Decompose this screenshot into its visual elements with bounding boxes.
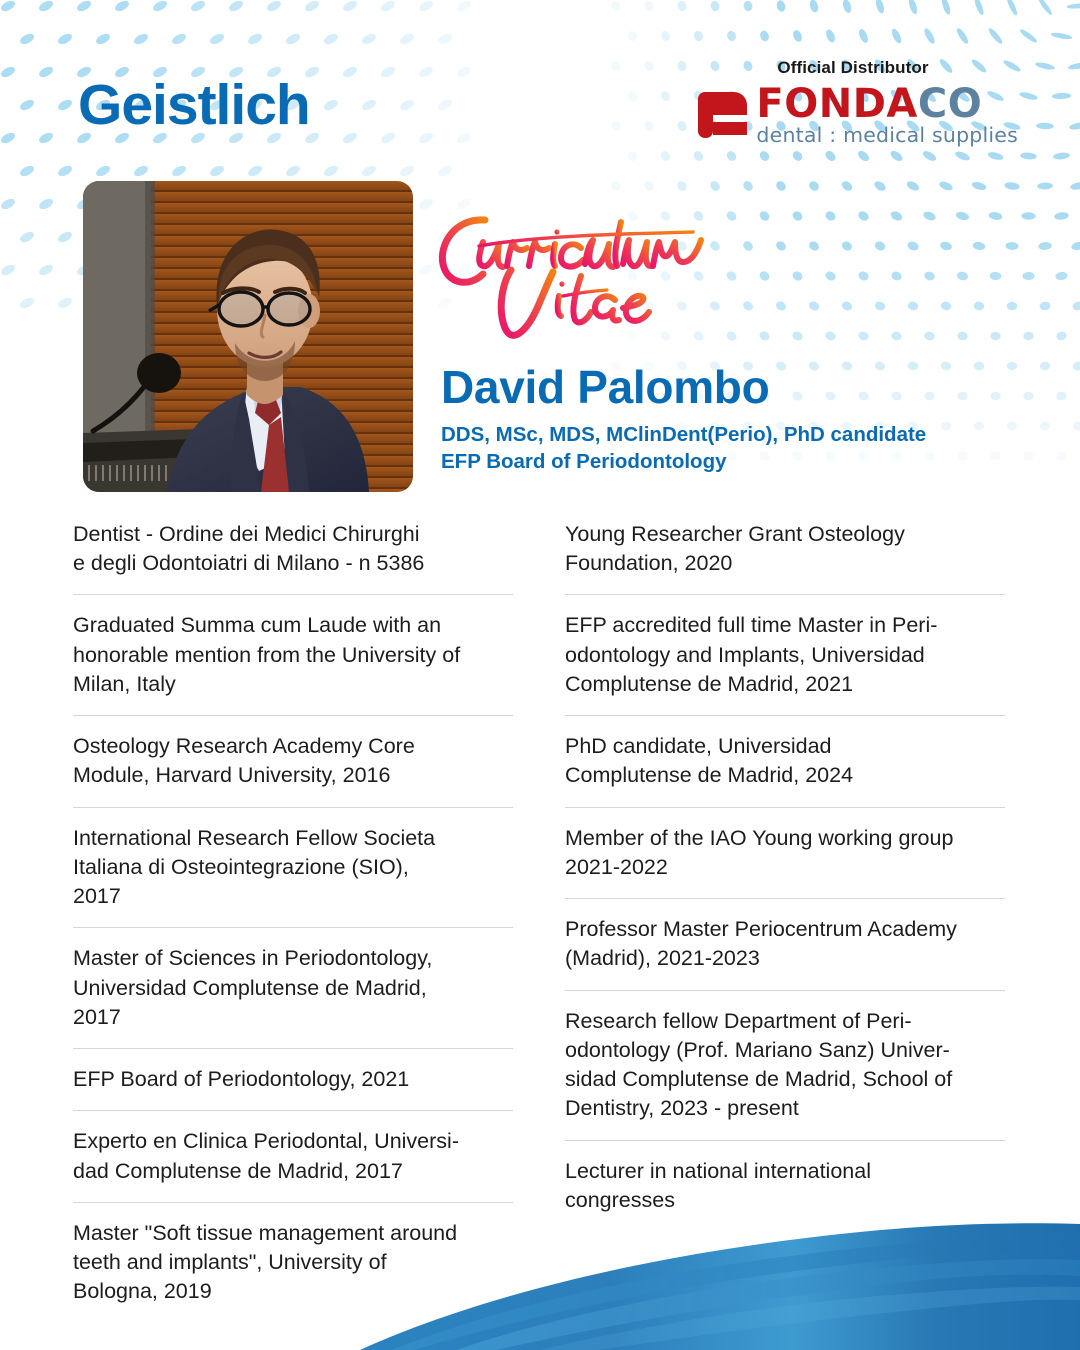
cv-entry-line: congresses (565, 1186, 1005, 1215)
cv-column-right: Young Researcher Grant OsteologyFoundati… (565, 520, 1005, 1231)
credentials-line-2: EFP Board of Periodontology (441, 448, 1021, 475)
cv-entry-line: odontology (Prof. Mariano Sanz) Univer- (565, 1036, 1005, 1065)
cv-entry-line: 2017 (73, 882, 513, 911)
cv-entry-line: honorable mention from the University of (73, 641, 513, 670)
cv-entry: Graduated Summa cum Laude with anhonorab… (73, 595, 513, 716)
cv-entry-line: Universidad Complutense de Madrid, (73, 974, 513, 1003)
portrait-photo (83, 181, 413, 492)
cv-entry-line: Milan, Italy (73, 670, 513, 699)
cv-entry: International Research Fellow SocietaIta… (73, 808, 513, 929)
cv-entry-line: International Research Fellow Societa (73, 824, 513, 853)
cv-entry-line: 2017 (73, 1003, 513, 1032)
cv-entry-line: (Madrid), 2021-2023 (565, 944, 1005, 973)
curriculum-vitae-script-title (425, 212, 755, 342)
cv-entry-line: Module, Harvard University, 2016 (73, 761, 513, 790)
cv-entry: Young Researcher Grant OsteologyFoundati… (565, 520, 1005, 595)
cv-entry: Osteology Research Academy CoreModule, H… (73, 716, 513, 807)
cv-page: Geistlich Official Distributor FONDACO d… (0, 0, 1080, 1350)
cv-entry-line: Master "Soft tissue management around (73, 1219, 513, 1248)
cv-entry: Professor Master Periocentrum Academy(Ma… (565, 899, 1005, 990)
fondaco-word-grey: CO (918, 81, 982, 127)
cv-entry-line: Dentistry, 2023 - present (565, 1094, 1005, 1123)
cv-entry-line: Graduated Summa cum Laude with an (73, 611, 513, 640)
cv-entry-line: Foundation, 2020 (565, 549, 1005, 578)
cv-entry-line: Young Researcher Grant Osteology (565, 520, 1005, 549)
cv-entry: Master of Sciences in Periodontology,Uni… (73, 928, 513, 1049)
cv-entry-line: EFP Board of Periodontology, 2021 (73, 1065, 513, 1094)
cv-entry-line: Dentist - Ordine dei Medici Chirurghi (73, 520, 513, 549)
cv-entry-line: odontology and Implants, Universidad (565, 641, 1005, 670)
cv-entry-line: dad Complutense de Madrid, 2017 (73, 1157, 513, 1186)
cv-entry-line: Master of Sciences in Periodontology, (73, 944, 513, 973)
cv-entry-line: Research fellow Department of Peri- (565, 1007, 1005, 1036)
cv-entry-line: Lecturer in national international (565, 1157, 1005, 1186)
cv-entry: Lecturer in national internationalcongre… (565, 1141, 1005, 1231)
cv-entry: EFP Board of Periodontology, 2021 (73, 1049, 513, 1111)
credentials: DDS, MSc, MDS, MClinDent(Perio), PhD can… (441, 421, 1021, 475)
cv-entry-line: Member of the IAO Young working group (565, 824, 1005, 853)
cv-entry-line: PhD candidate, Universidad (565, 732, 1005, 761)
cv-entry: Research fellow Department of Peri-odont… (565, 991, 1005, 1141)
credentials-line-1: DDS, MSc, MDS, MClinDent(Perio), PhD can… (441, 421, 1021, 448)
cv-entry: EFP accredited full time Master in Peri-… (565, 595, 1005, 716)
cv-entry: Experto en Clinica Periodontal, Universi… (73, 1111, 513, 1202)
cv-entry-line: Professor Master Periocentrum Academy (565, 915, 1005, 944)
fondaco-wordmark: FONDACO dental : medical supplies (756, 84, 1018, 146)
official-distributor-block: Official Distributor FONDACO dental : me… (688, 58, 1018, 146)
fondaco-logo: FONDACO dental : medical supplies (688, 84, 1018, 146)
cv-entry-line: e degli Odontoiatri di Milano - n 5386 (73, 549, 513, 578)
cv-entry-line: teeth and implants", University of (73, 1248, 513, 1277)
cv-entry: PhD candidate, UniversidadComplutense de… (565, 716, 1005, 807)
fondaco-word-red: FONDA (756, 81, 917, 127)
cv-entry: Dentist - Ordine dei Medici Chirurghie d… (73, 520, 513, 595)
cv-entry-line: EFP accredited full time Master in Peri- (565, 611, 1005, 640)
fondaco-f-mark-icon (694, 86, 750, 144)
cv-entry-line: Bologna, 2019 (73, 1277, 513, 1306)
cv-entry-line: Complutense de Madrid, 2024 (565, 761, 1005, 790)
fondaco-word: FONDACO (756, 84, 982, 124)
cv-entry-line: Osteology Research Academy Core (73, 732, 513, 761)
fondaco-tagline: dental : medical supplies (756, 125, 1018, 146)
cv-entry-line: sidad Complutense de Madrid, School of (565, 1065, 1005, 1094)
cv-entry-line: Complutense de Madrid, 2021 (565, 670, 1005, 699)
cv-entry-line: Experto en Clinica Periodontal, Universi… (73, 1127, 513, 1156)
official-distributor-label: Official Distributor (688, 58, 1018, 78)
cv-entry: Member of the IAO Young working group202… (565, 808, 1005, 899)
geistlich-logo: Geistlich (78, 72, 310, 138)
cv-entry-line: Italiana di Osteointegrazione (SIO), (73, 853, 513, 882)
cv-entry: Master "Soft tissue management aroundtee… (73, 1203, 513, 1323)
cv-entry-line: 2021-2022 (565, 853, 1005, 882)
cv-column-left: Dentist - Ordine dei Medici Chirurghie d… (73, 520, 513, 1322)
page-title: David Palombo (441, 360, 769, 414)
